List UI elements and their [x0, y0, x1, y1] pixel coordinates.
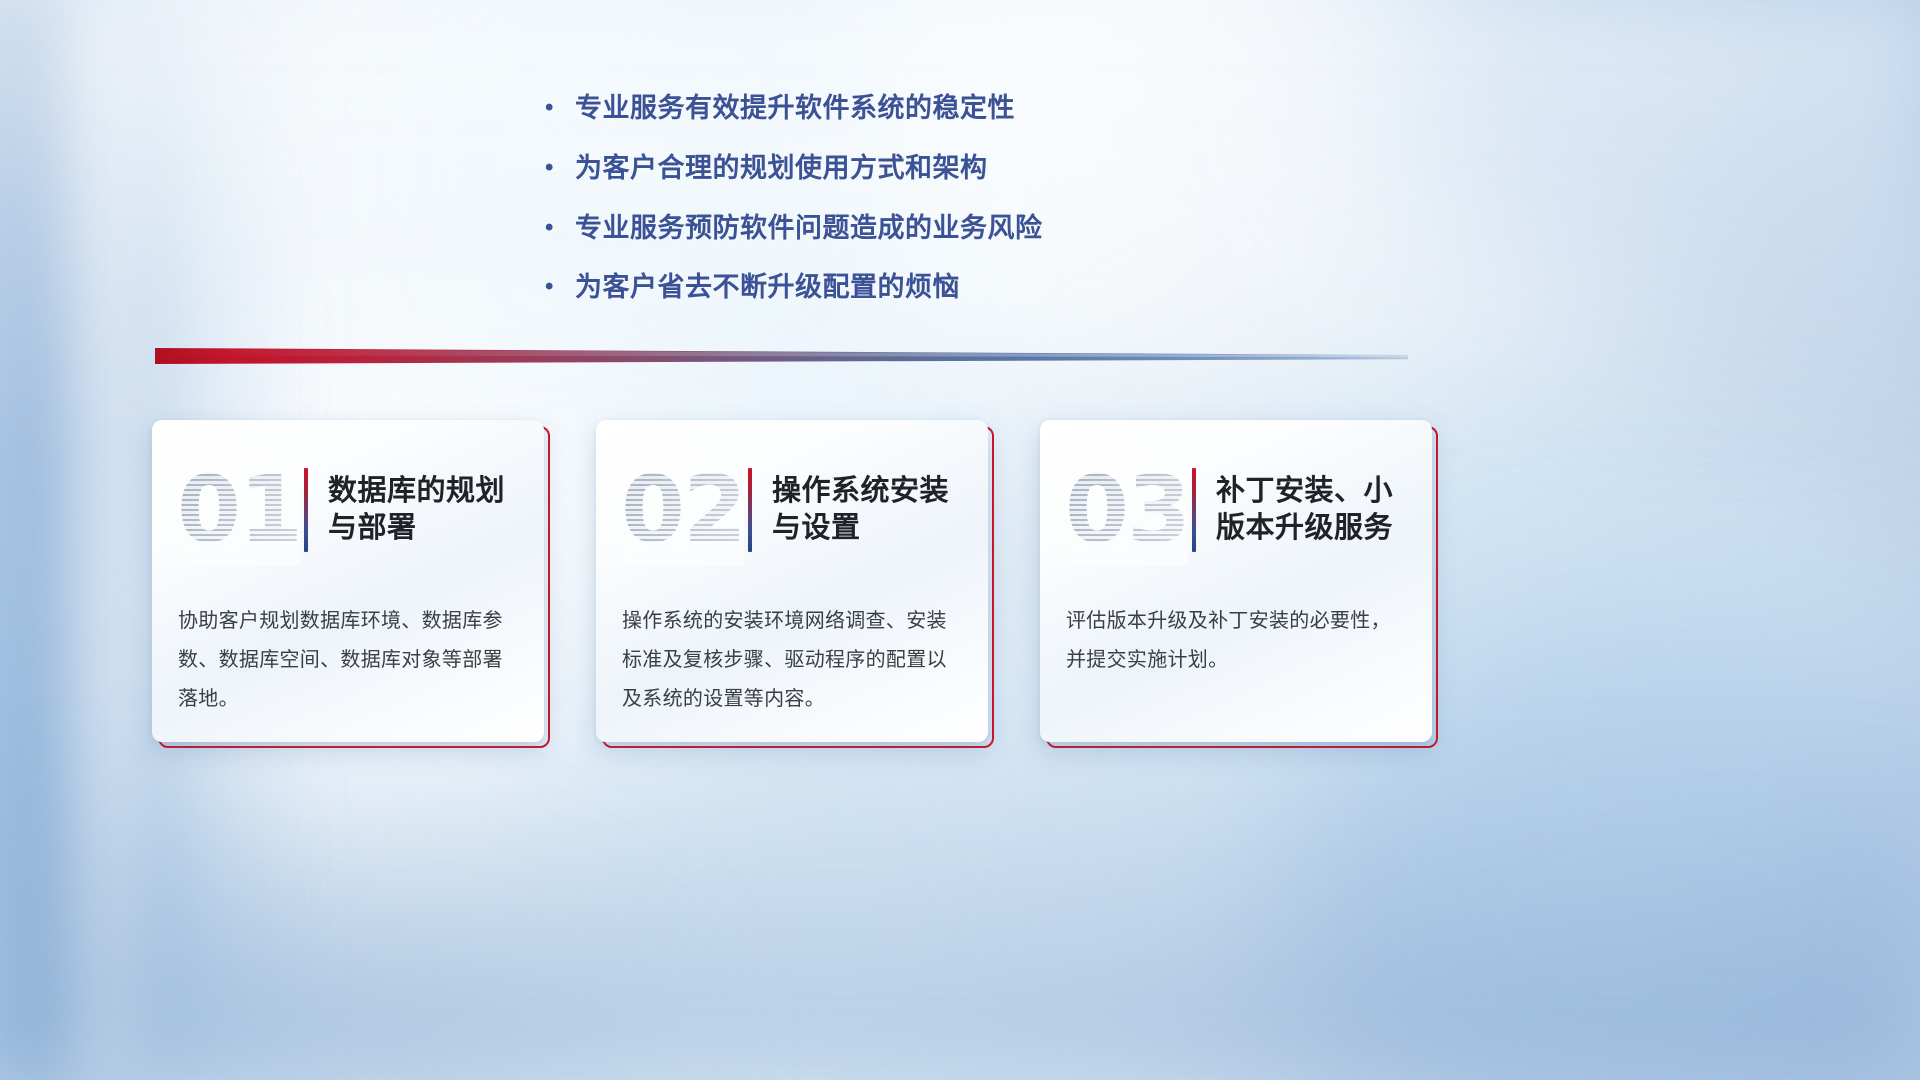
card-title-divider — [1192, 468, 1196, 552]
section-divider — [155, 348, 1408, 364]
card-surface[interactable]: 01 数据库的规划与部署 协助客户规划数据库环境、数据库参数、数据库空间、数据库… — [152, 420, 544, 742]
card-header: 03 补丁安装、小版本升级服务 — [1066, 454, 1406, 566]
bullet-dot-icon: • — [545, 212, 575, 243]
benefits-bullet-list: • 专业服务有效提升软件系统的稳定性 • 为客户合理的规划使用方式和架构 • 专… — [545, 92, 1445, 331]
card-title: 补丁安装、小版本升级服务 — [1216, 473, 1406, 547]
service-card[interactable]: 02 操作系统安装与设置 操作系统的安装环境网络调查、安装标准及复核步骤、驱动程… — [596, 420, 988, 742]
card-surface[interactable]: 03 补丁安装、小版本升级服务 评估版本升级及补丁安装的必要性，并提交实施计划。 — [1040, 420, 1432, 742]
list-item: • 专业服务有效提升软件系统的稳定性 — [545, 92, 1445, 126]
bullet-dot-icon: • — [545, 271, 575, 302]
background-bottom-shade — [0, 756, 1920, 1080]
list-item-label: 专业服务有效提升软件系统的稳定性 — [575, 92, 1445, 126]
card-header: 02 操作系统安装与设置 — [622, 454, 962, 566]
list-item-label: 为客户合理的规划使用方式和架构 — [575, 152, 1445, 186]
card-number-label: 01 — [177, 464, 301, 556]
card-body-text: 操作系统的安装环境网络调查、安装标准及复核步骤、驱动程序的配置以及系统的设置等内… — [622, 602, 962, 719]
service-card[interactable]: 03 补丁安装、小版本升级服务 评估版本升级及补丁安装的必要性，并提交实施计划。 — [1040, 420, 1432, 742]
card-body-text: 协助客户规划数据库环境、数据库参数、数据库空间、数据库对象等部署落地。 — [178, 602, 518, 719]
card-body-text: 评估版本升级及补丁安装的必要性，并提交实施计划。 — [1066, 602, 1406, 680]
card-surface[interactable]: 02 操作系统安装与设置 操作系统的安装环境网络调查、安装标准及复核步骤、驱动程… — [596, 420, 988, 742]
service-card-list: 01 数据库的规划与部署 协助客户规划数据库环境、数据库参数、数据库空间、数据库… — [152, 420, 1432, 742]
card-title: 数据库的规划与部署 — [328, 473, 518, 547]
service-card[interactable]: 01 数据库的规划与部署 协助客户规划数据库环境、数据库参数、数据库空间、数据库… — [152, 420, 544, 742]
bullet-dot-icon: • — [545, 152, 575, 183]
card-number-label: 02 — [621, 464, 745, 556]
list-item: • 为客户省去不断升级配置的烦恼 — [545, 271, 1445, 305]
card-number-badge: 01 — [178, 454, 300, 566]
list-item-label: 为客户省去不断升级配置的烦恼 — [575, 271, 1445, 305]
card-title: 操作系统安装与设置 — [772, 473, 962, 547]
list-item-label: 专业服务预防软件问题造成的业务风险 — [575, 212, 1445, 246]
card-title-divider — [304, 468, 308, 552]
card-number-label: 03 — [1065, 464, 1189, 556]
bullet-dot-icon: • — [545, 92, 575, 123]
card-number-badge: 03 — [1066, 454, 1188, 566]
card-number-badge: 02 — [622, 454, 744, 566]
list-item: • 为客户合理的规划使用方式和架构 — [545, 152, 1445, 186]
list-item: • 专业服务预防软件问题造成的业务风险 — [545, 212, 1445, 246]
card-header: 01 数据库的规划与部署 — [178, 454, 518, 566]
card-title-divider — [748, 468, 752, 552]
